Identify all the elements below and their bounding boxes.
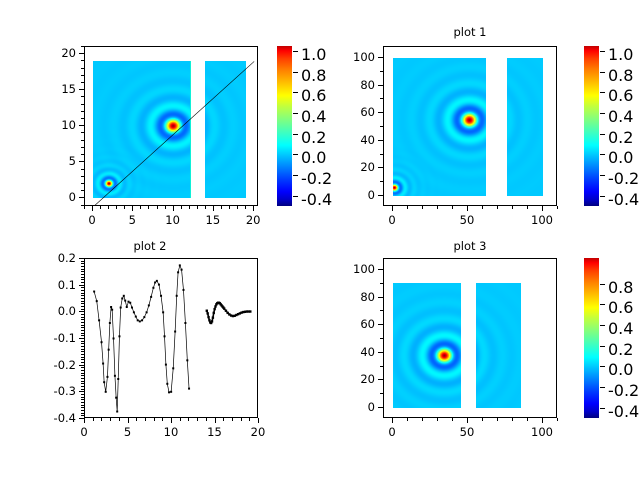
data-point-marker [118, 335, 120, 337]
y-tick-minor [380, 352, 383, 353]
y-tick-minor [81, 338, 84, 339]
overlay-line [93, 61, 254, 205]
x-tick-label: 100 [517, 214, 567, 226]
data-point-marker [120, 307, 122, 309]
x-tick-minor [467, 206, 468, 209]
data-point-marker [108, 349, 110, 351]
data-point-marker [102, 363, 104, 365]
x-tick-minor [245, 206, 246, 209]
y-tick-minor [81, 279, 84, 280]
y-tick-minor [380, 269, 383, 270]
y-tick-minor [380, 195, 383, 196]
x-tick-minor [148, 206, 149, 209]
colorbar-tick [600, 72, 605, 73]
y-tick-minor [81, 132, 84, 133]
y-tick-minor [81, 394, 84, 395]
y-tick-minor [81, 322, 84, 323]
colorbar-tick [600, 304, 605, 305]
y-tick-label: 0 [24, 191, 76, 203]
y-tick-minor [81, 287, 84, 288]
y-tick-minor [81, 277, 84, 278]
x-tick-minor [162, 418, 163, 421]
y-tick-label: 5 [24, 155, 76, 167]
x-tick-label: 5 [103, 426, 153, 438]
y-tick-minor [380, 324, 383, 325]
data-point-marker [165, 364, 167, 366]
y-tick-minor [81, 183, 84, 184]
data-point-marker [109, 322, 111, 324]
y-tick-minor [81, 269, 84, 270]
data-point-marker [105, 391, 107, 393]
x-tick-minor [181, 206, 182, 209]
y-tick-minor [81, 154, 84, 155]
data-point-marker [121, 297, 123, 299]
colorbar-tick-label: 0.0 [608, 148, 633, 167]
y-tick-label: 0 [323, 189, 375, 201]
y-tick-label: 40 [323, 134, 375, 146]
y-tick-minor [81, 266, 84, 267]
colorbar-tick-label: 0.2 [608, 128, 633, 147]
colorbar-top-left[interactable] [277, 46, 292, 206]
colorbar-tick [293, 196, 298, 197]
data-point-marker [188, 388, 190, 390]
y-tick-minor [81, 46, 84, 47]
y-tick-minor [81, 190, 84, 191]
x-tick-minor [173, 206, 174, 209]
axes-bottom-right[interactable] [383, 258, 557, 418]
x-tick-minor [557, 418, 558, 421]
data-point-marker [214, 305, 216, 307]
y-tick-minor [81, 391, 84, 392]
y-tick-minor [380, 167, 383, 168]
figure-canvas: 0510152005101520 1.00.80.60.40.20.0-0.2-… [0, 0, 640, 480]
colorbar-top-right[interactable] [584, 46, 599, 206]
y-tick-minor [81, 263, 84, 264]
y-tick-minor [380, 379, 383, 380]
x-tick-minor [119, 418, 120, 421]
x-tick-label: 0 [59, 426, 109, 438]
y-tick-minor [81, 402, 84, 403]
x-tick-minor [221, 206, 222, 209]
x-tick-minor [497, 206, 498, 209]
data-point-marker [150, 296, 152, 298]
y-tick-minor [81, 118, 84, 119]
y-tick-minor [81, 383, 84, 384]
y-tick-minor [81, 378, 84, 379]
colorbar-tick-label: 0.8 [608, 278, 633, 297]
x-tick-minor [101, 418, 102, 421]
data-point-marker [249, 310, 251, 312]
colorbar-tick-label: 0.0 [608, 360, 633, 379]
colorbar-tick-label: 0.6 [608, 298, 633, 317]
colorbar-tick [293, 113, 298, 114]
colorbar-tick-label: -0.2 [608, 169, 639, 188]
y-tick-minor [380, 112, 383, 113]
x-tick-minor [422, 418, 423, 421]
data-point-marker [98, 319, 100, 321]
axes-top-right[interactable] [383, 46, 557, 206]
colorbar-tick [600, 325, 605, 326]
data-point-marker [170, 391, 172, 393]
x-tick-minor [482, 206, 483, 209]
x-tick-minor [171, 418, 172, 421]
x-tick-minor [189, 206, 190, 209]
data-point-marker [117, 378, 119, 380]
y-tick-minor [81, 285, 84, 286]
y-tick-minor [81, 282, 84, 283]
x-tick-minor [512, 418, 513, 421]
y-tick-minor [81, 330, 84, 331]
colorbar-tick-label: -0.2 [608, 381, 639, 400]
x-tick-label: 50 [442, 426, 492, 438]
x-tick-label: 0 [367, 214, 417, 226]
data-point-marker [126, 306, 128, 308]
data-point-marker [176, 295, 178, 297]
heatmap-patch [393, 58, 486, 196]
x-tick-minor [116, 206, 117, 209]
x-tick-minor [392, 418, 393, 421]
colorbar-tick-label: -0.4 [608, 190, 639, 209]
y-tick-minor [81, 104, 84, 105]
colorbar-gradient [584, 258, 599, 418]
y-tick-minor [81, 319, 84, 320]
y-tick-label: -0.4 [24, 412, 76, 424]
x-tick-label: 100 [517, 426, 567, 438]
y-tick-minor [81, 397, 84, 398]
y-tick-label: 80 [323, 291, 375, 303]
x-tick-minor [145, 418, 146, 421]
data-point-marker [111, 309, 113, 311]
y-tick-minor [81, 335, 84, 336]
y-tick-minor [81, 271, 84, 272]
heatmap-patch [393, 283, 461, 408]
panel-bottom-left: plot 2 051015200.20.10.0-0.1-0.2-0.3-0.4 [0, 240, 320, 480]
data-point-marker [207, 316, 209, 318]
heatmap-patch [507, 58, 543, 196]
x-tick-minor [128, 418, 129, 421]
x-tick-label: 10 [146, 426, 196, 438]
x-tick-minor [223, 418, 224, 421]
x-tick-minor [452, 206, 453, 209]
data-point-marker [101, 341, 103, 343]
y-tick-minor [81, 295, 84, 296]
data-point-marker [162, 311, 164, 313]
y-tick-minor [81, 386, 84, 387]
colorbar-tick [600, 113, 605, 114]
heatmap-patch [476, 283, 521, 408]
colorbar-tick [293, 175, 298, 176]
y-tick-minor [81, 140, 84, 141]
y-tick-label: 20 [323, 373, 375, 385]
y-tick-minor [81, 125, 84, 126]
colorbar-tick [293, 92, 298, 93]
data-point-marker [113, 337, 115, 339]
x-tick-minor [527, 418, 528, 421]
x-tick-minor [258, 418, 259, 421]
y-tick-minor [81, 354, 84, 355]
x-tick-minor [407, 206, 408, 209]
y-tick-minor [81, 290, 84, 291]
x-tick-minor [437, 206, 438, 209]
x-tick-minor [93, 418, 94, 421]
colorbar-tick-label: 0.4 [608, 319, 633, 338]
y-tick-minor [380, 393, 383, 394]
colorbar-tick [600, 366, 605, 367]
y-tick-minor [81, 53, 84, 54]
y-tick-minor [380, 98, 383, 99]
y-tick-minor [81, 367, 84, 368]
y-tick-minor [81, 370, 84, 371]
x-tick-minor [180, 418, 181, 421]
y-tick-label: 0.1 [24, 279, 76, 291]
colorbar-gradient [584, 46, 599, 206]
y-tick-minor [380, 154, 383, 155]
y-tick-minor [380, 181, 383, 182]
panel-bottom-right: plot 3 050100020406080100 0.80.60.40.20.… [320, 240, 640, 480]
data-point-marker [179, 264, 181, 266]
y-tick-minor [380, 366, 383, 367]
x-tick-minor [422, 206, 423, 209]
panel-top-right-title: plot 1 [360, 26, 580, 38]
y-tick-minor [380, 297, 383, 298]
x-tick-minor [542, 206, 543, 209]
data-point-marker [213, 312, 215, 314]
x-tick-minor [249, 418, 250, 421]
x-tick-minor [482, 418, 483, 421]
y-tick-minor [81, 111, 84, 112]
y-tick-minor [380, 71, 383, 72]
y-tick-minor [81, 341, 84, 342]
y-tick-minor [81, 197, 84, 198]
data-point-marker [213, 308, 215, 310]
y-tick-minor [81, 325, 84, 326]
y-tick-minor [81, 309, 84, 310]
y-tick-minor [380, 283, 383, 284]
y-tick-minor [81, 298, 84, 299]
data-point-marker [164, 335, 166, 337]
colorbar-tick [600, 284, 605, 285]
y-tick-minor [81, 176, 84, 177]
colorbar-tick [600, 408, 605, 409]
colorbar-bottom-right[interactable] [584, 258, 599, 418]
x-tick-minor [100, 206, 101, 209]
y-tick-label: -0.1 [24, 332, 76, 344]
y-tick-minor [81, 327, 84, 328]
colorbar-tick-label: 1.0 [608, 45, 633, 64]
y-tick-minor [380, 338, 383, 339]
y-tick-minor [81, 405, 84, 406]
y-tick-minor [81, 359, 84, 360]
data-point-marker [208, 319, 210, 321]
y-tick-minor [81, 60, 84, 61]
y-tick-minor [81, 205, 84, 206]
x-tick-label: 20 [228, 214, 278, 226]
y-tick-label: 0.2 [24, 252, 76, 264]
y-tick-minor [81, 365, 84, 366]
y-tick-minor [81, 413, 84, 414]
y-tick-label: 20 [24, 47, 76, 59]
x-tick-minor [140, 206, 141, 209]
data-point-marker [172, 367, 174, 369]
x-tick-minor [132, 206, 133, 209]
y-tick-label: 100 [323, 263, 375, 275]
x-tick-label: 0 [367, 426, 417, 438]
y-tick-minor [81, 333, 84, 334]
colorbar-tick-label: 0.6 [608, 86, 633, 105]
data-point-marker [143, 316, 145, 318]
y-tick-minor [81, 261, 84, 262]
y-tick-minor [81, 303, 84, 304]
data-point-marker [139, 320, 141, 322]
panel-bottom-right-title: plot 3 [360, 240, 580, 252]
data-point-marker [186, 359, 188, 361]
y-tick-minor [81, 346, 84, 347]
data-point-marker [114, 375, 116, 377]
colorbar-tick [600, 175, 605, 176]
data-point-marker [156, 280, 158, 282]
x-tick-minor [92, 206, 93, 209]
y-tick-minor [81, 351, 84, 352]
y-tick-minor [81, 293, 84, 294]
colorbar-tick [600, 154, 605, 155]
colorbar-tick [600, 51, 605, 52]
x-tick-minor [437, 418, 438, 421]
x-tick-minor [110, 418, 111, 421]
x-tick-minor [215, 418, 216, 421]
data-point-marker [211, 320, 213, 322]
axes-top-left[interactable] [84, 46, 258, 206]
x-tick-minor [542, 418, 543, 421]
data-point-marker [96, 300, 98, 302]
colorbar-tick-label: -0.4 [608, 402, 639, 421]
x-tick-minor [392, 206, 393, 209]
colorbar-tick-label: 0.4 [608, 107, 633, 126]
x-tick-minor [84, 418, 85, 421]
y-tick-minor [380, 126, 383, 127]
y-tick-minor [380, 310, 383, 311]
y-tick-minor [81, 317, 84, 318]
panel-top-left: 0510152005101520 1.00.80.60.40.20.0-0.2-… [0, 0, 320, 240]
data-point-marker [177, 271, 179, 273]
data-point-marker [106, 376, 108, 378]
y-tick-minor [81, 373, 84, 374]
colorbar-tick [600, 346, 605, 347]
y-tick-minor [81, 314, 84, 315]
y-tick-minor [81, 274, 84, 275]
x-tick-label: 15 [190, 426, 240, 438]
y-tick-minor [81, 381, 84, 382]
data-point-marker [137, 319, 139, 321]
y-tick-minor [81, 147, 84, 148]
colorbar-tick-label: 0.2 [608, 340, 633, 359]
x-tick-label: 20 [233, 426, 283, 438]
colorbar-tick [293, 134, 298, 135]
y-tick-label: 20 [323, 161, 375, 173]
y-tick-minor [380, 407, 383, 408]
data-point-marker [206, 310, 208, 312]
line-series-plot2 [85, 259, 257, 417]
x-tick-label: 50 [442, 214, 492, 226]
data-point-marker [148, 304, 150, 306]
data-point-marker [135, 316, 137, 318]
x-tick-minor [467, 418, 468, 421]
data-point-marker [158, 284, 160, 286]
x-tick-minor [124, 206, 125, 209]
y-tick-label: 80 [323, 79, 375, 91]
y-tick-minor [81, 82, 84, 83]
data-point-marker [93, 291, 95, 293]
colorbar-gradient [277, 46, 292, 206]
y-tick-minor [380, 85, 383, 86]
y-tick-minor [81, 362, 84, 363]
line-path [94, 265, 189, 411]
x-tick-minor [253, 206, 254, 209]
data-point-marker [166, 383, 168, 385]
panel-top-right: plot 1 050100020406080100 1.00.80.60.40.… [320, 0, 640, 240]
y-tick-minor [380, 57, 383, 58]
data-point-marker [133, 311, 135, 313]
x-tick-minor [188, 418, 189, 421]
data-point-marker [128, 301, 130, 303]
y-tick-minor [81, 415, 84, 416]
y-tick-minor [81, 389, 84, 390]
y-tick-minor [81, 311, 84, 312]
x-tick-minor [497, 418, 498, 421]
data-point-marker [225, 310, 227, 312]
x-tick-minor [206, 418, 207, 421]
x-tick-minor [241, 418, 242, 421]
x-tick-minor [154, 418, 155, 421]
data-point-marker [110, 306, 112, 308]
data-point-marker [123, 295, 125, 297]
x-tick-minor [232, 418, 233, 421]
data-point-marker [212, 316, 214, 318]
axes-bottom-left[interactable] [84, 258, 258, 418]
y-tick-minor [81, 357, 84, 358]
x-tick-minor [157, 206, 158, 209]
x-tick-minor [213, 206, 214, 209]
colorbar-tick [600, 196, 605, 197]
y-tick-minor [81, 418, 84, 419]
data-point-marker [146, 311, 148, 313]
y-tick-label: 15 [24, 83, 76, 95]
data-point-marker [141, 319, 143, 321]
data-point-marker [131, 307, 133, 309]
data-point-marker [116, 411, 118, 413]
x-tick-minor [452, 418, 453, 421]
colorbar-tick [600, 387, 605, 388]
data-point-marker [168, 391, 170, 393]
y-tick-label: 0.0 [24, 305, 76, 317]
data-point-marker [181, 269, 183, 271]
data-point-marker [223, 307, 225, 309]
colorbar-tick-label: 0.8 [608, 66, 633, 85]
y-tick-minor [81, 343, 84, 344]
y-tick-label: 0 [323, 401, 375, 413]
data-point-marker [115, 397, 117, 399]
y-tick-label: 100 [323, 51, 375, 63]
y-tick-minor [81, 75, 84, 76]
x-tick-minor [205, 206, 206, 209]
x-tick-minor [165, 206, 166, 209]
colorbar-tick [293, 72, 298, 73]
y-tick-label: 60 [323, 318, 375, 330]
y-tick-minor [81, 89, 84, 90]
data-point-marker [129, 302, 131, 304]
y-tick-major [79, 258, 84, 259]
y-tick-minor [380, 140, 383, 141]
data-point-marker [174, 331, 176, 333]
